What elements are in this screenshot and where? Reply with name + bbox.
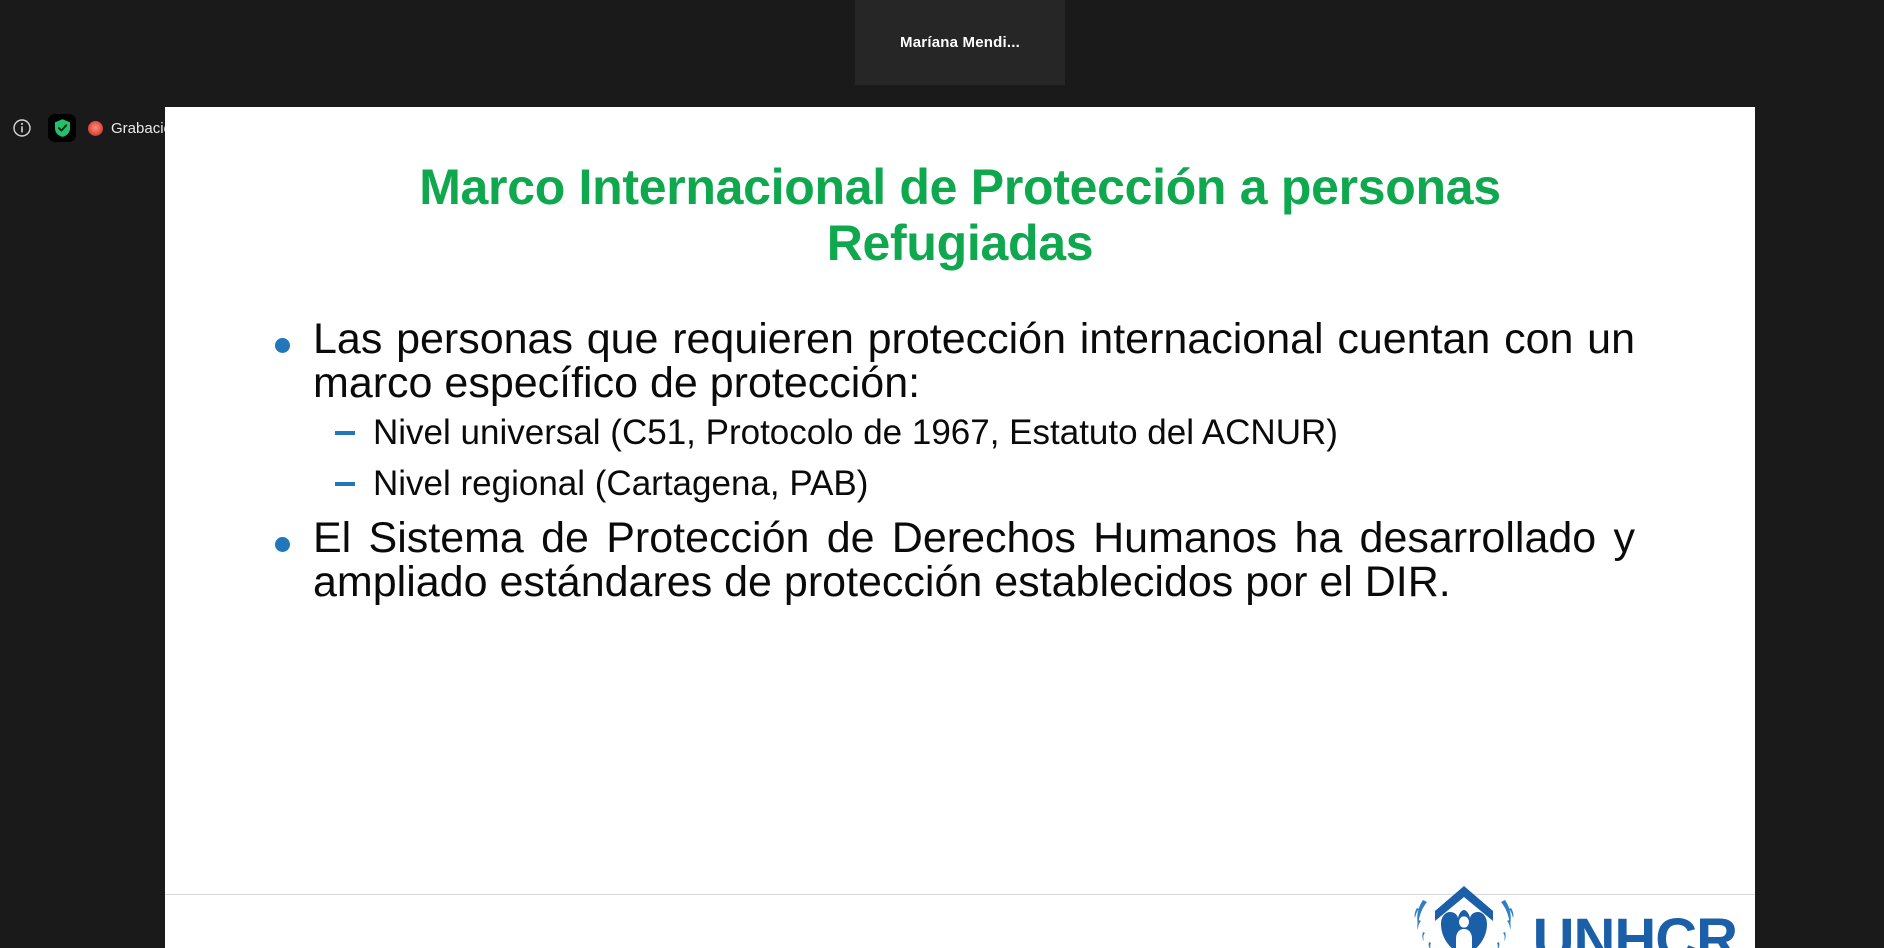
recording-dot-icon — [88, 121, 103, 136]
slide-bullet-text: Las personas que requieren protección in… — [313, 317, 1635, 406]
slide-bullet: Las personas que requieren protección in… — [275, 317, 1635, 406]
slide-bullet-text: El Sistema de Protección de Derechos Hum… — [313, 516, 1635, 605]
meeting-controls-bar: Grabación — [0, 108, 180, 148]
shared-presentation-slide[interactable]: Marco Internacional de Protección a pers… — [165, 107, 1755, 948]
meeting-window: Maríana Mendi... Grabación Marco Interna… — [0, 0, 1884, 948]
slide-sub-bullet: Nivel universal (C51, Protocolo de 1967,… — [335, 414, 1635, 451]
bullet-dot-icon — [275, 317, 313, 353]
slide-sub-bullet-text: Nivel universal (C51, Protocolo de 1967,… — [373, 414, 1635, 451]
bullet-dash-icon — [335, 414, 373, 435]
slide-bullet: El Sistema de Protección de Derechos Hum… — [275, 516, 1635, 605]
unhcr-logo: UNHCR — [1405, 878, 1737, 948]
info-icon[interactable] — [8, 114, 36, 142]
slide-body: Las personas que requieren protección in… — [165, 271, 1755, 604]
slide-sub-bullet: Nivel regional (Cartagena, PAB) — [335, 465, 1635, 502]
bullet-dot-icon — [275, 516, 313, 552]
bullet-dash-icon — [335, 465, 373, 486]
participant-name-label: Maríana Mendi... — [900, 34, 1020, 51]
slide-sub-bullet-list: Nivel universal (C51, Protocolo de 1967,… — [275, 414, 1635, 502]
unhcr-wordmark: UNHCR — [1533, 916, 1737, 948]
slide-title: Marco Internacional de Protección a pers… — [165, 107, 1755, 271]
participant-video-tile[interactable]: Maríana Mendi... — [855, 0, 1065, 85]
slide-sub-bullet-text: Nivel regional (Cartagena, PAB) — [373, 465, 1635, 502]
shield-check-icon[interactable] — [48, 114, 76, 142]
